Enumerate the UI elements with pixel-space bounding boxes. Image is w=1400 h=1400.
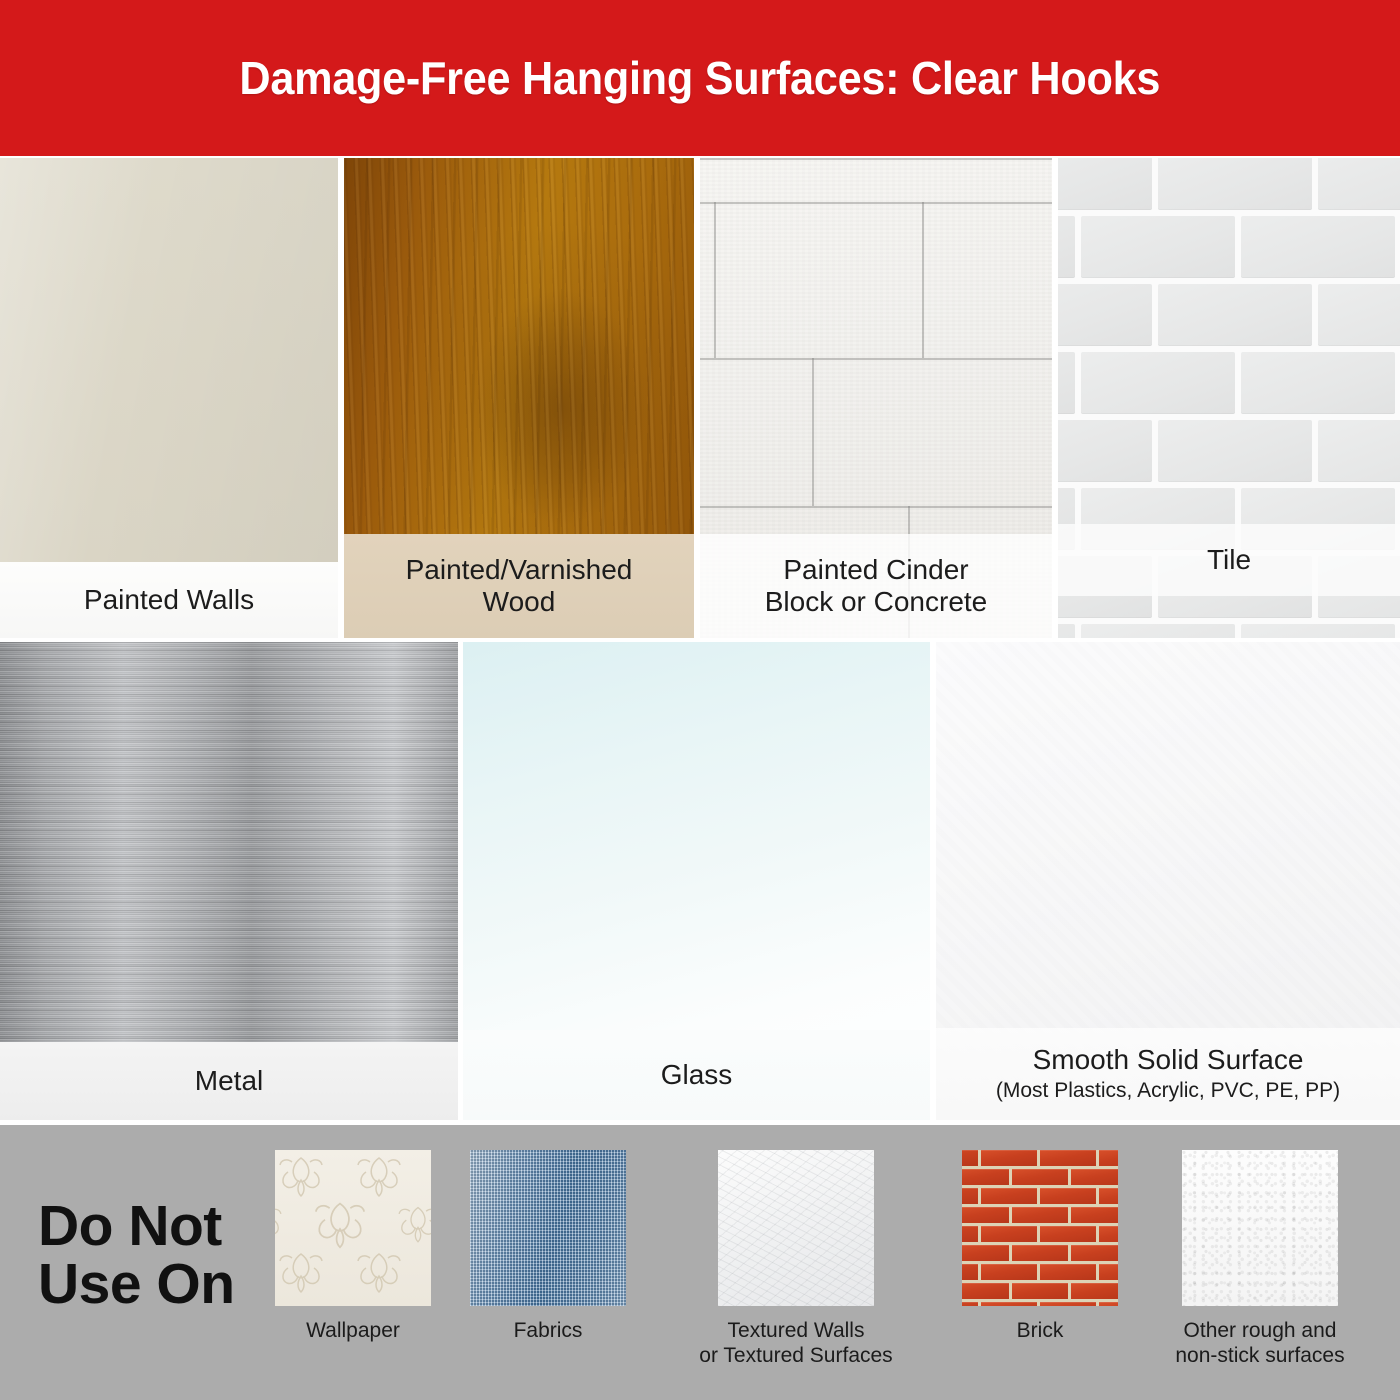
do-not-use-item-brick: Brick <box>962 1150 1118 1343</box>
label-line1: Other rough and <box>1145 1318 1375 1343</box>
surface-panel-painted-walls: Painted Walls <box>0 158 338 638</box>
surface-sublabel: (Most Plastics, Acrylic, PVC, PE, PP) <box>996 1078 1340 1104</box>
wallpaper-swatch <box>275 1150 431 1306</box>
surface-caption: Smooth Solid Surface (Most Plastics, Acr… <box>936 1028 1400 1120</box>
do-not-use-label: Textured Walls or Textured Surfaces <box>671 1318 921 1368</box>
label-line1: Textured Walls <box>671 1318 921 1343</box>
surface-caption: Glass <box>463 1030 930 1120</box>
do-not-use-item-fabrics: Fabrics <box>470 1150 626 1343</box>
surface-caption: Painted Walls <box>0 562 338 638</box>
surface-label: Glass <box>661 1059 733 1091</box>
surface-label: Smooth Solid Surface <box>1033 1044 1304 1076</box>
do-not-use-item-textured-walls: Textured Walls or Textured Surfaces <box>718 1150 874 1368</box>
page-title: Damage-Free Hanging Surfaces: Clear Hook… <box>240 51 1161 105</box>
surface-panel-painted-cinder-block: Painted Cinder Block or Concrete <box>700 158 1052 638</box>
surface-panel-metal: Metal <box>0 642 458 1120</box>
label-line1: Wallpaper <box>275 1318 431 1343</box>
surface-label: Tile <box>1207 544 1251 576</box>
surface-label-line1: Painted/Varnished <box>406 554 633 586</box>
do-not-use-item-other-rough: Other rough and non-stick surfaces <box>1182 1150 1338 1368</box>
surface-caption: Tile <box>1058 524 1400 596</box>
label-line2: or Textured Surfaces <box>671 1343 921 1368</box>
surface-label-line2: Wood <box>483 586 556 618</box>
do-not-use-item-wallpaper: Wallpaper <box>275 1150 431 1343</box>
surface-panel-glass: Glass <box>463 642 930 1120</box>
do-not-use-label: Fabrics <box>470 1318 626 1343</box>
surface-caption: Painted/Varnished Wood <box>344 534 694 638</box>
surface-panel-smooth-solid-surface: Smooth Solid Surface (Most Plastics, Acr… <box>936 642 1400 1120</box>
label-line1: Brick <box>962 1318 1118 1343</box>
do-not-use-label: Wallpaper <box>275 1318 431 1343</box>
label-line1: Fabrics <box>470 1318 626 1343</box>
surface-panel-painted-varnished-wood: Painted/Varnished Wood <box>344 158 694 638</box>
surface-label-line2: Block or Concrete <box>765 586 988 618</box>
do-not-use-title-line1: Do Not <box>38 1197 235 1255</box>
brick-swatch <box>962 1150 1118 1306</box>
textured-walls-swatch <box>718 1150 874 1306</box>
fabrics-swatch <box>470 1150 626 1306</box>
other-rough-swatch <box>1182 1150 1338 1306</box>
surface-label: Painted Walls <box>84 584 254 616</box>
do-not-use-title: Do Not Use On <box>38 1197 235 1313</box>
infographic-page: Damage-Free Hanging Surfaces: Clear Hook… <box>0 0 1400 1400</box>
surface-label: Metal <box>195 1065 263 1097</box>
surface-panel-tile: Tile <box>1058 158 1400 638</box>
surface-label-line1: Painted Cinder <box>783 554 968 586</box>
do-not-use-label: Brick <box>962 1318 1118 1343</box>
surface-caption: Painted Cinder Block or Concrete <box>700 534 1052 638</box>
surface-caption: Metal <box>0 1042 458 1120</box>
label-line2: non-stick surfaces <box>1145 1343 1375 1368</box>
header-banner: Damage-Free Hanging Surfaces: Clear Hook… <box>0 0 1400 156</box>
do-not-use-title-line2: Use On <box>38 1255 235 1313</box>
do-not-use-label: Other rough and non-stick surfaces <box>1145 1318 1375 1368</box>
